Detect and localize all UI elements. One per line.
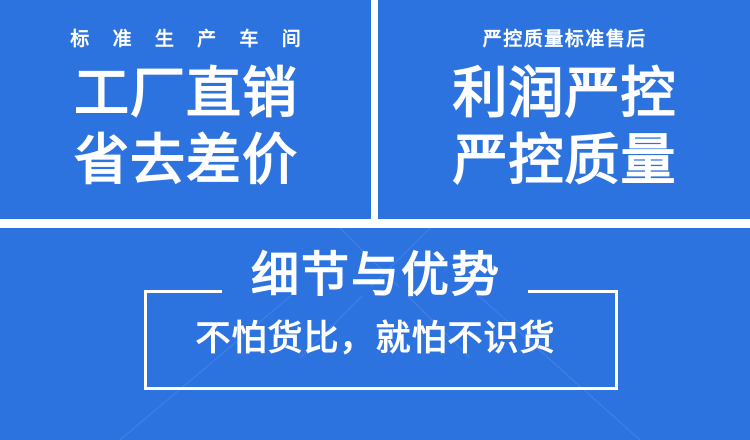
quality-control-eyebrow: 严控质量标准售后	[481, 30, 647, 49]
panel-factory-direct-content: 标 准 生 产 车 间 工厂直销 省去差价	[0, 0, 371, 219]
panel-factory-direct: 标 准 生 产 车 间 工厂直销 省去差价	[0, 0, 371, 219]
promo-banner: 标 准 生 产 车 间 工厂直销 省去差价 严控质量标准售后 利润严控 严控质量…	[0, 0, 750, 440]
panel-quality-control-content: 严控质量标准售后 利润严控 严控质量	[378, 0, 750, 219]
details-advantages-subtitle: 不怕货比，就怕不识货	[0, 321, 750, 356]
factory-direct-headline-line1: 工厂直销	[73, 66, 298, 121]
factory-direct-headline-line2: 省去差价	[73, 133, 298, 188]
quality-control-headline-line1: 利润严控	[451, 66, 676, 121]
details-advantages-title: 细节与优势	[0, 252, 750, 300]
panel-quality-control: 严控质量标准售后 利润严控 严控质量	[378, 0, 750, 219]
panel-details-advantages: 细节与优势 不怕货比，就怕不识货	[0, 228, 750, 440]
factory-direct-eyebrow: 标 准 生 产 车 间	[61, 30, 309, 49]
quality-control-headline-line2: 严控质量	[451, 133, 676, 188]
